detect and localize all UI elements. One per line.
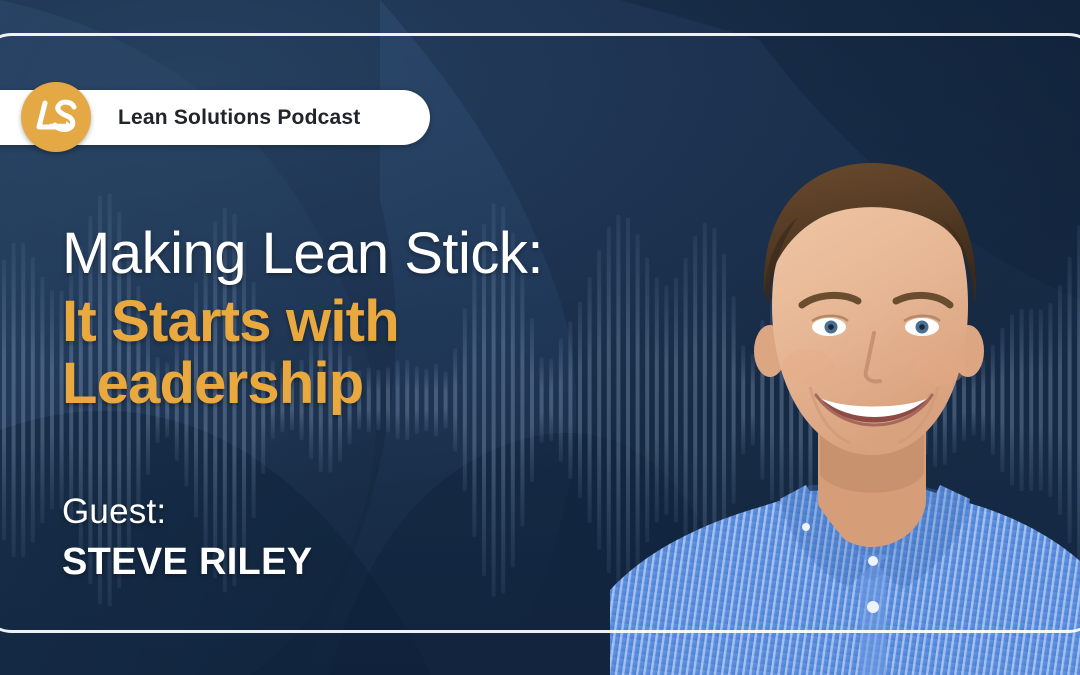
guest-name: STEVE RILEY	[62, 541, 312, 584]
episode-title-line-3: Leadership	[62, 353, 702, 414]
guest-block: Guest: STEVE RILEY	[62, 492, 312, 584]
podcast-name: Lean Solutions Podcast	[118, 106, 360, 130]
ls-monogram-arrow-icon	[21, 82, 91, 152]
episode-title: Making Lean Stick: It Starts with Leader…	[62, 224, 702, 414]
episode-title-line-2: It Starts with	[62, 291, 702, 352]
guest-label: Guest:	[62, 492, 312, 532]
episode-title-line-1: Making Lean Stick:	[62, 224, 702, 283]
podcast-episode-cover: Making Lean Stick: It Starts with Leader…	[0, 0, 1080, 675]
